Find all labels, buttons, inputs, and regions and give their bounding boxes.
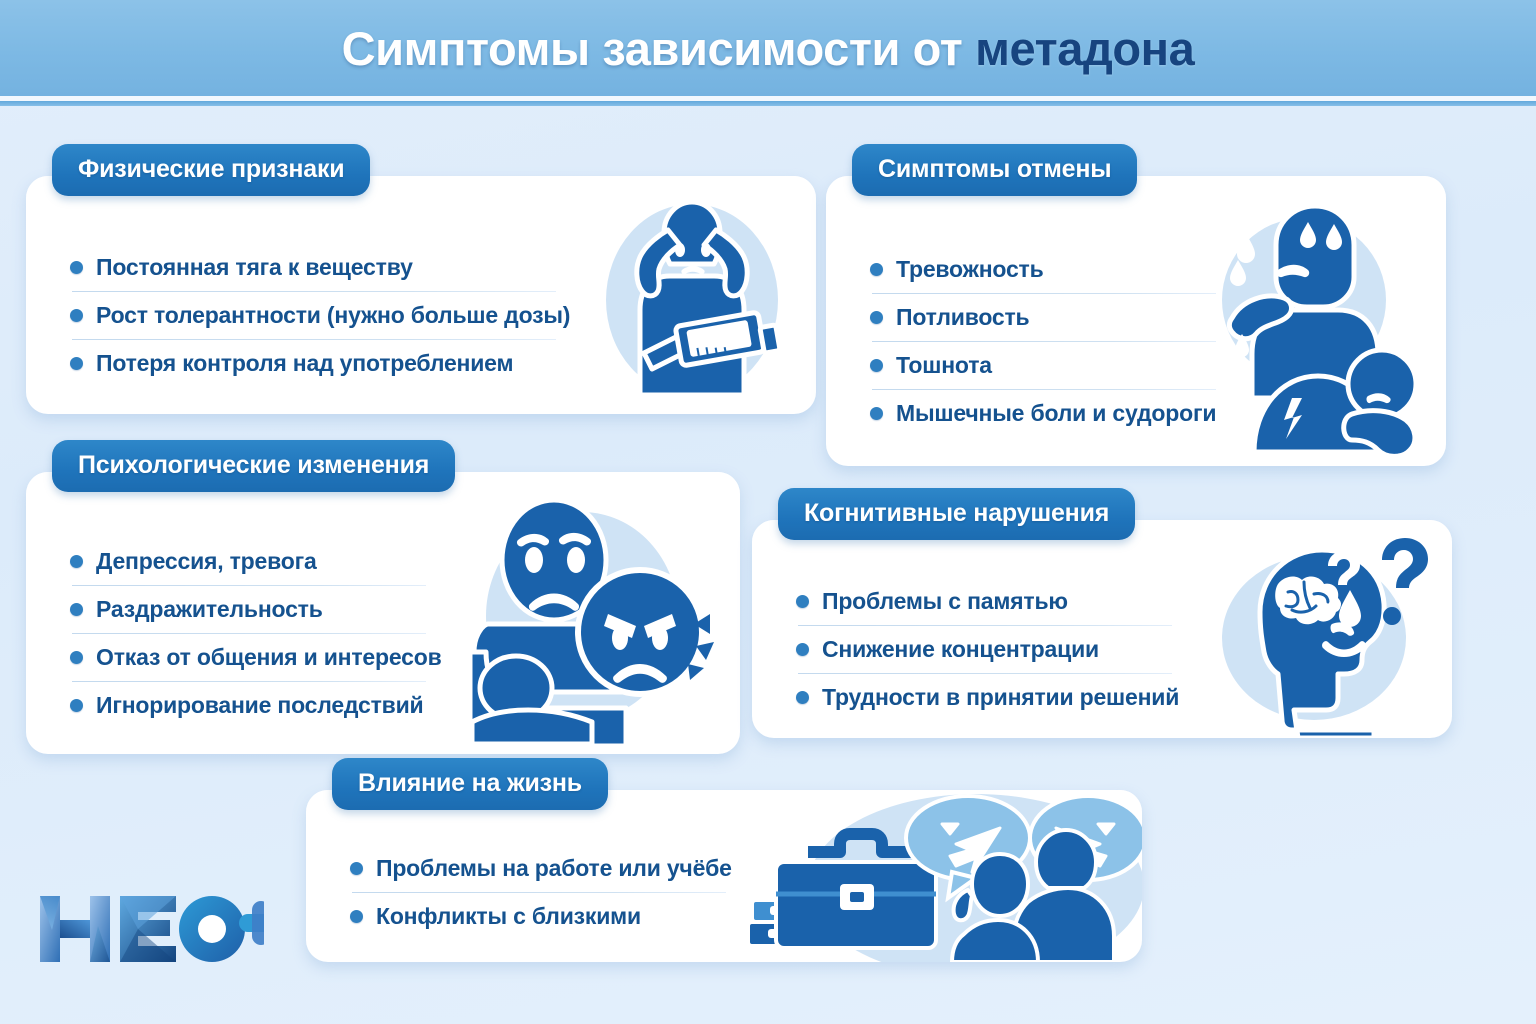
list-item-label: Снижение концентрации xyxy=(822,636,1099,663)
page-title-main: Симптомы зависимости от xyxy=(342,22,976,75)
card-psychological-changes-body: Депрессия, тревога Раздражительность Отк… xyxy=(26,472,740,754)
list-item[interactable]: Проблемы на работе или учёбе xyxy=(350,848,726,889)
list-item-label: Тошнота xyxy=(896,352,992,379)
list-separator xyxy=(872,389,1216,390)
bullet-icon xyxy=(870,407,883,420)
list-item[interactable]: Проблемы с памятью xyxy=(796,581,1172,622)
list-item[interactable]: Раздражительность xyxy=(70,589,426,630)
list-item-label: Отказ от общения и интересов xyxy=(96,644,442,671)
list-item-label: Трудности в принятии решений xyxy=(822,684,1179,711)
bullet-icon xyxy=(350,862,363,875)
list-item[interactable]: Тошнота xyxy=(870,345,1216,386)
list-item[interactable]: Игнорирование последствий xyxy=(70,685,426,726)
card-cognitive-impairment-list: Проблемы с памятью Снижение концентрации… xyxy=(752,578,1172,720)
list-item-label: Проблемы с памятью xyxy=(822,588,1068,615)
logo-letter-n xyxy=(40,896,110,962)
list-item-label: Постоянная тяга к веществу xyxy=(96,254,413,281)
card-physical-signs-list: Постоянная тяга к веществу Рост толерант… xyxy=(26,234,556,396)
list-item-label: Депрессия, тревога xyxy=(96,548,317,575)
list-item[interactable]: Конфликты с близкими xyxy=(350,896,726,937)
list-item[interactable]: Трудности в принятии решений xyxy=(796,677,1172,718)
card-withdrawal-symptoms-list: Тревожность Потливость Тошнота Мышечные … xyxy=(826,234,1216,448)
list-item-label: Конфликты с близкими xyxy=(376,903,641,930)
bullet-icon xyxy=(870,311,883,324)
list-item-label: Рост толерантности (нужно больше дозы) xyxy=(96,302,570,329)
card-psychological-changes[interactable]: Психологические изменения Депрессия, тре… xyxy=(26,472,740,754)
list-item[interactable]: Потеря контроля над употреблением xyxy=(70,343,556,384)
list-item[interactable]: Рост толерантности (нужно больше дозы) xyxy=(70,295,556,336)
list-separator xyxy=(72,339,556,340)
bullet-icon xyxy=(70,261,83,274)
list-separator xyxy=(798,673,1172,674)
card-withdrawal-symptoms[interactable]: Симптомы отмены Тревожность Потливость Т… xyxy=(826,176,1446,466)
list-separator xyxy=(872,293,1216,294)
list-item[interactable]: Потливость xyxy=(870,297,1216,338)
bullet-icon xyxy=(796,643,809,656)
list-item-label: Потливость xyxy=(896,304,1030,331)
page-title: Симптомы зависимости от метадона xyxy=(342,21,1195,76)
bullet-icon xyxy=(70,699,83,712)
list-item-label: Мышечные боли и судороги xyxy=(896,400,1216,427)
bullet-icon xyxy=(70,555,83,568)
list-item-label: Раздражительность xyxy=(96,596,323,623)
bullet-icon xyxy=(70,309,83,322)
bullet-icon xyxy=(70,357,83,370)
card-life-impact-body: Проблемы на работе или учёбе Конфликты с… xyxy=(306,790,1142,962)
list-separator xyxy=(872,341,1216,342)
list-item[interactable]: Снижение концентрации xyxy=(796,629,1172,670)
bullet-icon xyxy=(350,910,363,923)
bullet-icon xyxy=(70,603,83,616)
card-cognitive-impairment-body: Проблемы с памятью Снижение концентрации… xyxy=(752,520,1452,738)
list-item-label: Тревожность xyxy=(896,256,1044,283)
bullet-icon xyxy=(870,263,883,276)
header-divider-blue xyxy=(0,101,1536,106)
list-item[interactable]: Постоянная тяга к веществу xyxy=(70,247,556,288)
list-separator xyxy=(352,892,726,893)
list-item-label: Потеря контроля над употреблением xyxy=(96,350,513,377)
list-item-label: Проблемы на работе или учёбе xyxy=(376,855,732,882)
card-cognitive-impairment[interactable]: Когнитивные нарушения Проблемы с памятью… xyxy=(752,520,1452,738)
list-separator xyxy=(72,681,426,682)
bullet-icon xyxy=(796,691,809,704)
neo-plus-logo[interactable] xyxy=(34,886,264,972)
list-item[interactable]: Мышечные боли и судороги xyxy=(870,393,1216,434)
card-physical-signs[interactable]: Физические признаки Постоянная тяга к ве… xyxy=(26,176,816,414)
page-header: Симптомы зависимости от метадона xyxy=(0,0,1536,96)
list-item[interactable]: Депрессия, тревога xyxy=(70,541,426,582)
bullet-icon xyxy=(796,595,809,608)
bullet-icon xyxy=(70,651,83,664)
page-title-accent: метадона xyxy=(975,22,1194,75)
list-item[interactable]: Отказ от общения и интересов xyxy=(70,637,426,678)
list-item-label: Игнорирование последствий xyxy=(96,692,423,719)
list-item[interactable]: Тревожность xyxy=(870,249,1216,290)
list-separator xyxy=(72,291,556,292)
list-separator xyxy=(798,625,1172,626)
card-life-impact[interactable]: Влияние на жизнь Проблемы на работе или … xyxy=(306,790,1142,962)
logo-letter-e xyxy=(120,896,176,962)
bullet-icon xyxy=(870,359,883,372)
card-psychological-changes-list: Депрессия, тревога Раздражительность Отк… xyxy=(26,530,426,736)
list-separator xyxy=(72,585,426,586)
card-life-impact-list: Проблемы на работе или учёбе Конфликты с… xyxy=(306,840,726,944)
card-withdrawal-symptoms-body: Тревожность Потливость Тошнота Мышечные … xyxy=(826,176,1446,466)
card-physical-signs-body: Постоянная тяга к веществу Рост толерант… xyxy=(26,176,816,414)
list-separator xyxy=(72,633,426,634)
logo-letter-o xyxy=(179,896,245,962)
